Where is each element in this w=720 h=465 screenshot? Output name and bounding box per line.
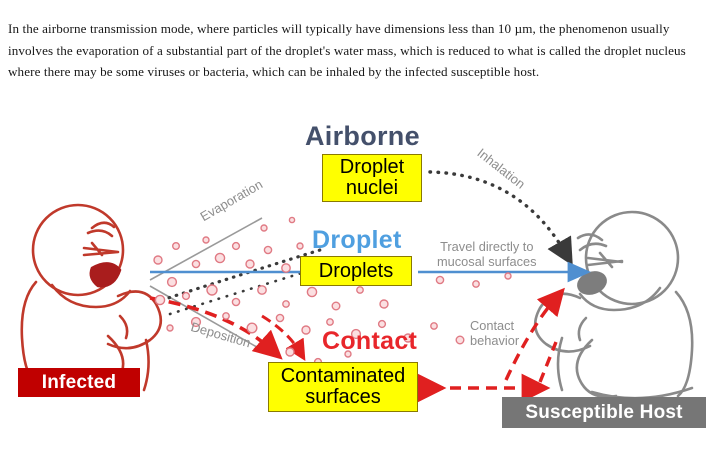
figure-page: In the airborne transmission mode, where… [0, 0, 720, 465]
annotation-travel-line1: Travel directly to [437, 240, 537, 255]
infected-person-figure [22, 205, 161, 393]
box-droplet-nuclei[interactable]: Droplet nuclei [322, 154, 422, 202]
section-title-droplet: Droplet [312, 226, 402, 255]
annotation-contact-behavior: Contact behavior [470, 319, 519, 348]
label-infected: Infected [18, 368, 140, 397]
label-susceptible-host: Susceptible Host [502, 397, 706, 428]
contact-behavior-dashes [540, 342, 556, 382]
box-droplets[interactable]: Droplets [300, 256, 412, 286]
annotation-contact-line1: Contact [470, 319, 519, 334]
annotation-travel-mucosal: Travel directly to mucosal surfaces [437, 240, 537, 269]
transmission-diagram: Airborne Droplet Contact Droplet nuclei … [0, 100, 720, 465]
annotation-contact-line2: behavior [470, 334, 519, 349]
box-contaminated-surfaces[interactable]: Contaminated surfaces [268, 362, 418, 412]
annotation-travel-line2: mucosal surfaces [437, 255, 537, 270]
section-title-contact: Contact [322, 327, 417, 356]
caption-paragraph: In the airborne transmission mode, where… [8, 18, 712, 83]
section-title-airborne: Airborne [305, 121, 420, 152]
